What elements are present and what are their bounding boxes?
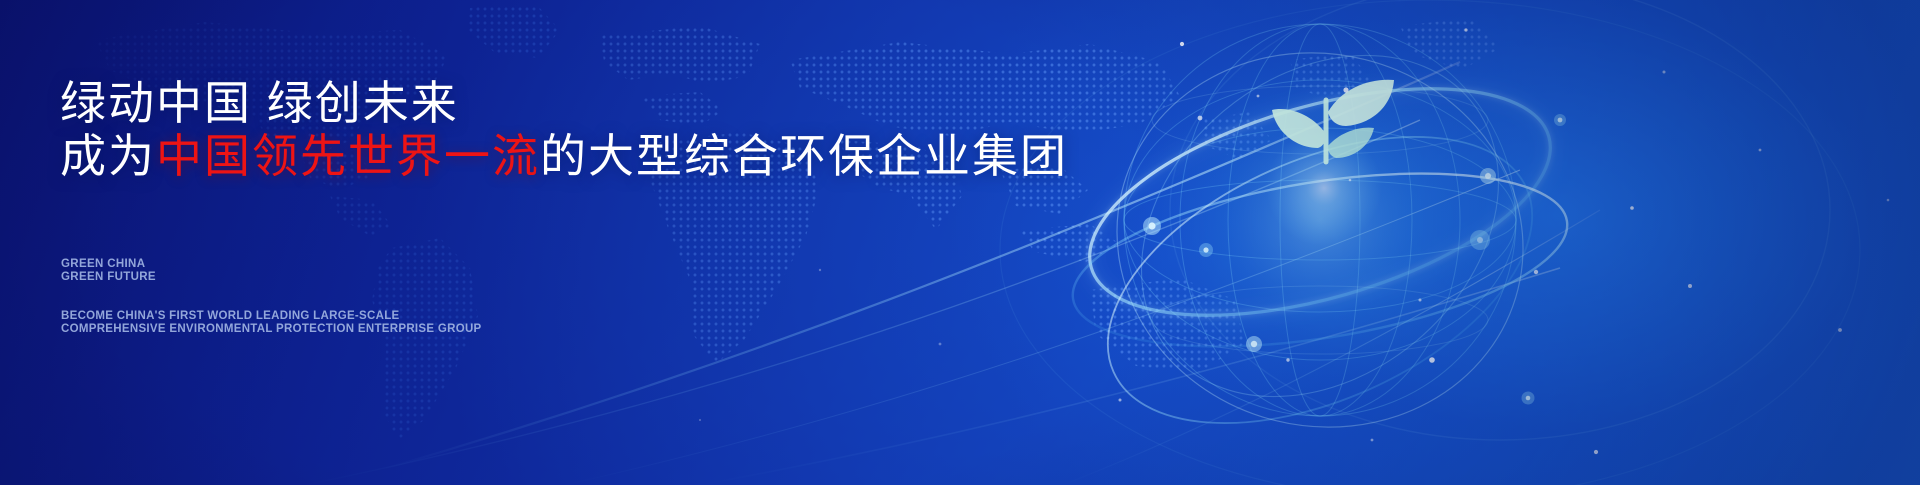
wireframe-globe (1040, 0, 1600, 485)
english-slogan-line1: GREEN CHINA (61, 258, 156, 271)
banner-text-block: 绿动中国 绿创未来 成为中国领先世界一流的大型综合环保企业集团 GREEN CH… (60, 0, 1060, 485)
english-description-line2: COMPREHENSIVE ENVIRONMENTAL PROTECTION E… (61, 323, 482, 336)
headline-secondary: 成为中国领先世界一流的大型综合环保企业集团 (60, 133, 1068, 179)
headline-primary: 绿动中国 绿创未来 (60, 80, 459, 126)
hero-banner: 绿动中国 绿创未来 成为中国领先世界一流的大型综合环保企业集团 GREEN CH… (0, 0, 1920, 485)
headline-secondary-prefix: 成为 (60, 130, 156, 182)
english-slogan-line2: GREEN FUTURE (61, 271, 156, 284)
english-slogan: GREEN CHINA GREEN FUTURE (61, 258, 156, 284)
headline-secondary-suffix: 的大型综合环保企业集团 (540, 130, 1068, 182)
english-description-line1: BECOME CHINA'S FIRST WORLD LEADING LARGE… (61, 310, 482, 323)
english-description: BECOME CHINA'S FIRST WORLD LEADING LARGE… (61, 310, 482, 336)
headline-secondary-highlight: 中国领先世界一流 (156, 130, 540, 182)
